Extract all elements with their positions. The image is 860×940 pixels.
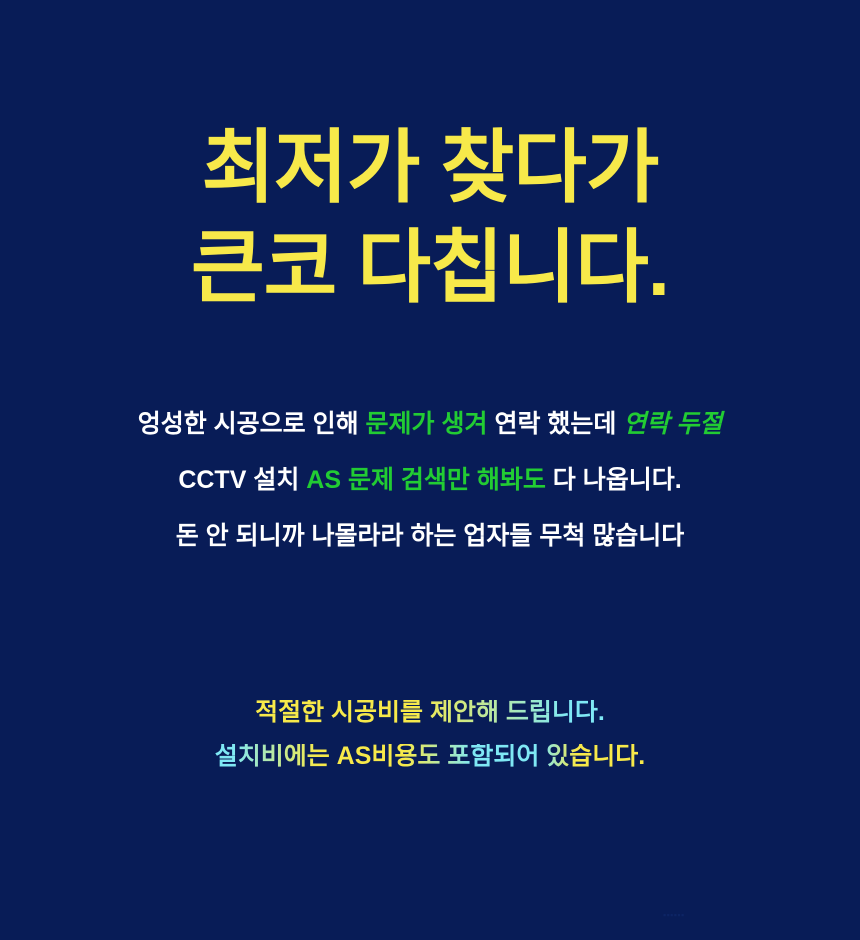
promotional-poster: 최저가 찾다가 큰코 다칩니다. 엉성한 시공으로 인해 문제가 생겨 연락 했… [0,0,860,940]
body-line-1-segment-highlight-a: 문제가 생겨 [366,410,488,438]
closing-line-1: 적절한 시공비를 제안해 드립니다. [0,700,860,725]
headline-line-1: 최저가 찾다가 [0,118,860,218]
body-line-1-segment-plain-a: 엉성한 시공으로 인해 [138,410,366,438]
body-line-1: 엉성한 시공으로 인해 문제가 생겨 연락 했는데 연락 두절 [0,412,860,437]
body-line-1-segment-plain-b: 연락 했는데 [488,410,624,438]
body-text-block: 엉성한 시공으로 인해 문제가 생겨 연락 했는데 연락 두절 CCTV 설치 … [0,412,860,549]
body-line-2-segment-plain-a: CCTV 설치 [178,466,306,494]
headline-line-2: 큰코 다칩니다. [0,218,860,318]
body-line-2-segment-highlight: AS 문제 검색만 해봐도 [306,466,546,494]
closing-text-block: 적절한 시공비를 제안해 드립니다. 설치비에는 AS비용도 포함되어 있습니다… [0,700,860,769]
body-line-3-segment-plain: 돈 안 되니까 나몰라라 하는 업자들 무척 많습니다 [176,522,685,550]
body-line-3: 돈 안 되니까 나몰라라 하는 업자들 무척 많습니다 [0,524,860,549]
body-line-1-segment-highlight-italic: 연락 두절 [623,410,722,438]
headline-block: 최저가 찾다가 큰코 다칩니다. [0,118,860,318]
body-line-2: CCTV 설치 AS 문제 검색만 해봐도 다 나옵니다. [0,468,860,493]
closing-line-2: 설치비에는 AS비용도 포함되어 있습니다. [0,744,860,769]
body-line-2-segment-plain-b: 다 나옵니다. [546,466,682,494]
footer-watermark: ▪▪▪▪▪▪ [663,910,685,920]
